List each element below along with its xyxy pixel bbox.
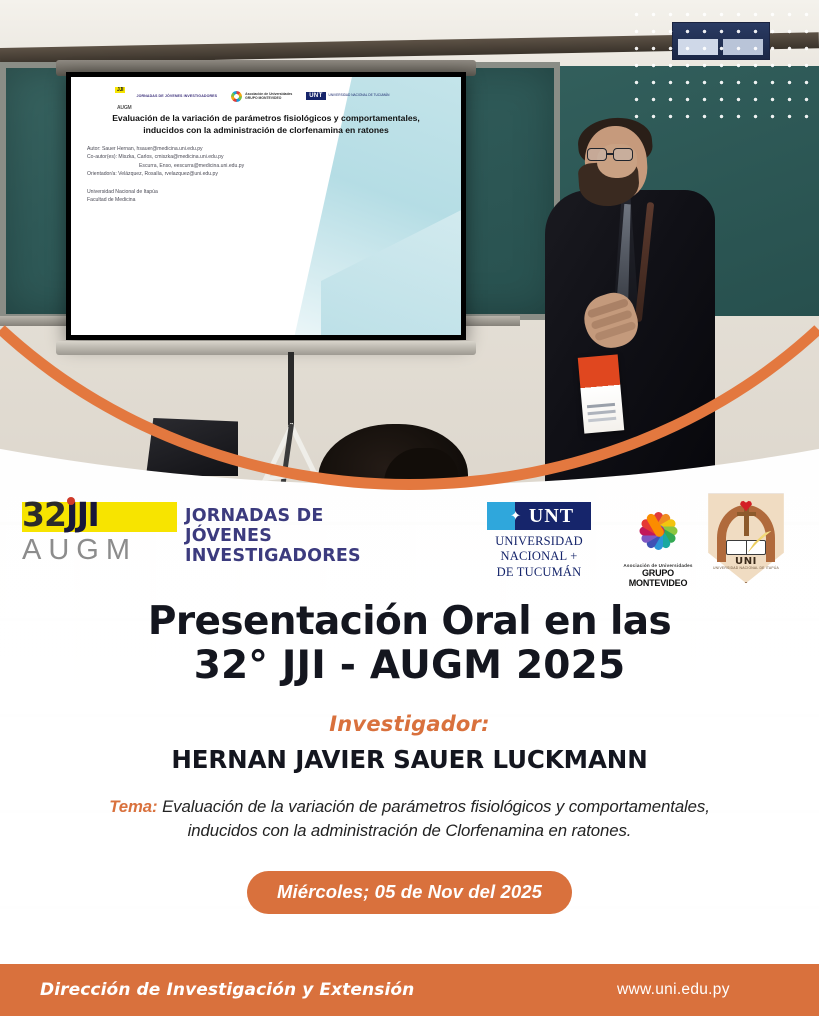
- investigator-name: HERNAN JAVIER SAUER LUCKMANN: [0, 745, 819, 774]
- grupo-montevideo-flower-icon: [627, 500, 689, 562]
- investigator-label: Investigador:: [0, 712, 819, 736]
- tema-text: Evaluación de la variación de parámetros…: [162, 797, 710, 840]
- grupo-montevideo-logo: Asociación de Universidades GRUPO MONTEV…: [615, 500, 701, 588]
- footer-website[interactable]: www.uni.edu.py: [617, 981, 730, 999]
- unt-subtitle: UNIVERSIDAD NACIONAL + DE TUCUMÁN: [487, 534, 591, 580]
- augm-tagline-1: JORNADAS DE: [185, 507, 361, 527]
- page-title-line-1: Presentación Oral en las: [148, 599, 671, 644]
- footer-bar: Dirección de Investigación y Extensión w…: [0, 964, 819, 1016]
- unt-mark: UNT: [515, 505, 591, 528]
- unt-mark-bar: UNT: [487, 502, 591, 530]
- unt-subtitle-2: NACIONAL +: [487, 549, 591, 564]
- main-content: Presentación Oral en las 32° JJI - AUGM …: [0, 600, 819, 914]
- footer-department: Dirección de Investigación y Extensión: [40, 980, 414, 1000]
- unt-subtitle-3: DE TUCUMÁN: [487, 565, 591, 580]
- tema-label: Tema:: [109, 797, 157, 816]
- unt-star-icon: [487, 502, 515, 530]
- augm-tagline-2: JÓVENES: [185, 527, 361, 547]
- augm-logo: 32JJI AUGM JORNADAS DE JÓVENES INVESTIGA…: [22, 498, 361, 567]
- uni-logo: UNI UNIVERSIDAD NACIONAL DE ITAPÚA: [703, 492, 789, 584]
- unt-subtitle-1: UNIVERSIDAD: [487, 534, 591, 549]
- page-title: Presentación Oral en las 32° JJI - AUGM …: [0, 600, 819, 689]
- date-badge: Miércoles; 05 de Nov del 2025: [247, 871, 572, 914]
- augm-dot-icon: [67, 497, 75, 505]
- gm-name: GRUPO MONTEVIDEO: [615, 568, 701, 588]
- page-title-line-2: 32° JJI - AUGM 2025: [0, 644, 819, 688]
- poster-root: JJI AUGM JORNADAS DE JÓVENES INVESTIGADO…: [0, 0, 819, 1024]
- augm-tagline: JORNADAS DE JÓVENES INVESTIGADORES: [185, 507, 361, 567]
- augm-wordmark: AUGM: [22, 536, 172, 565]
- tema-paragraph: Tema: Evaluación de la variación de pará…: [100, 795, 720, 843]
- unt-logo: UNT UNIVERSIDAD NACIONAL + DE TUCUMÁN: [487, 502, 591, 580]
- orange-curve-divider: [0, 0, 819, 490]
- augm-number: 32: [22, 495, 66, 534]
- uni-book-icon: [726, 540, 766, 556]
- augm-tagline-3: INVESTIGADORES: [185, 547, 361, 567]
- uni-tagline: UNIVERSIDAD NACIONAL DE ITAPÚA: [703, 566, 789, 570]
- logo-row: 32JJI AUGM JORNADAS DE JÓVENES INVESTIGA…: [0, 490, 819, 582]
